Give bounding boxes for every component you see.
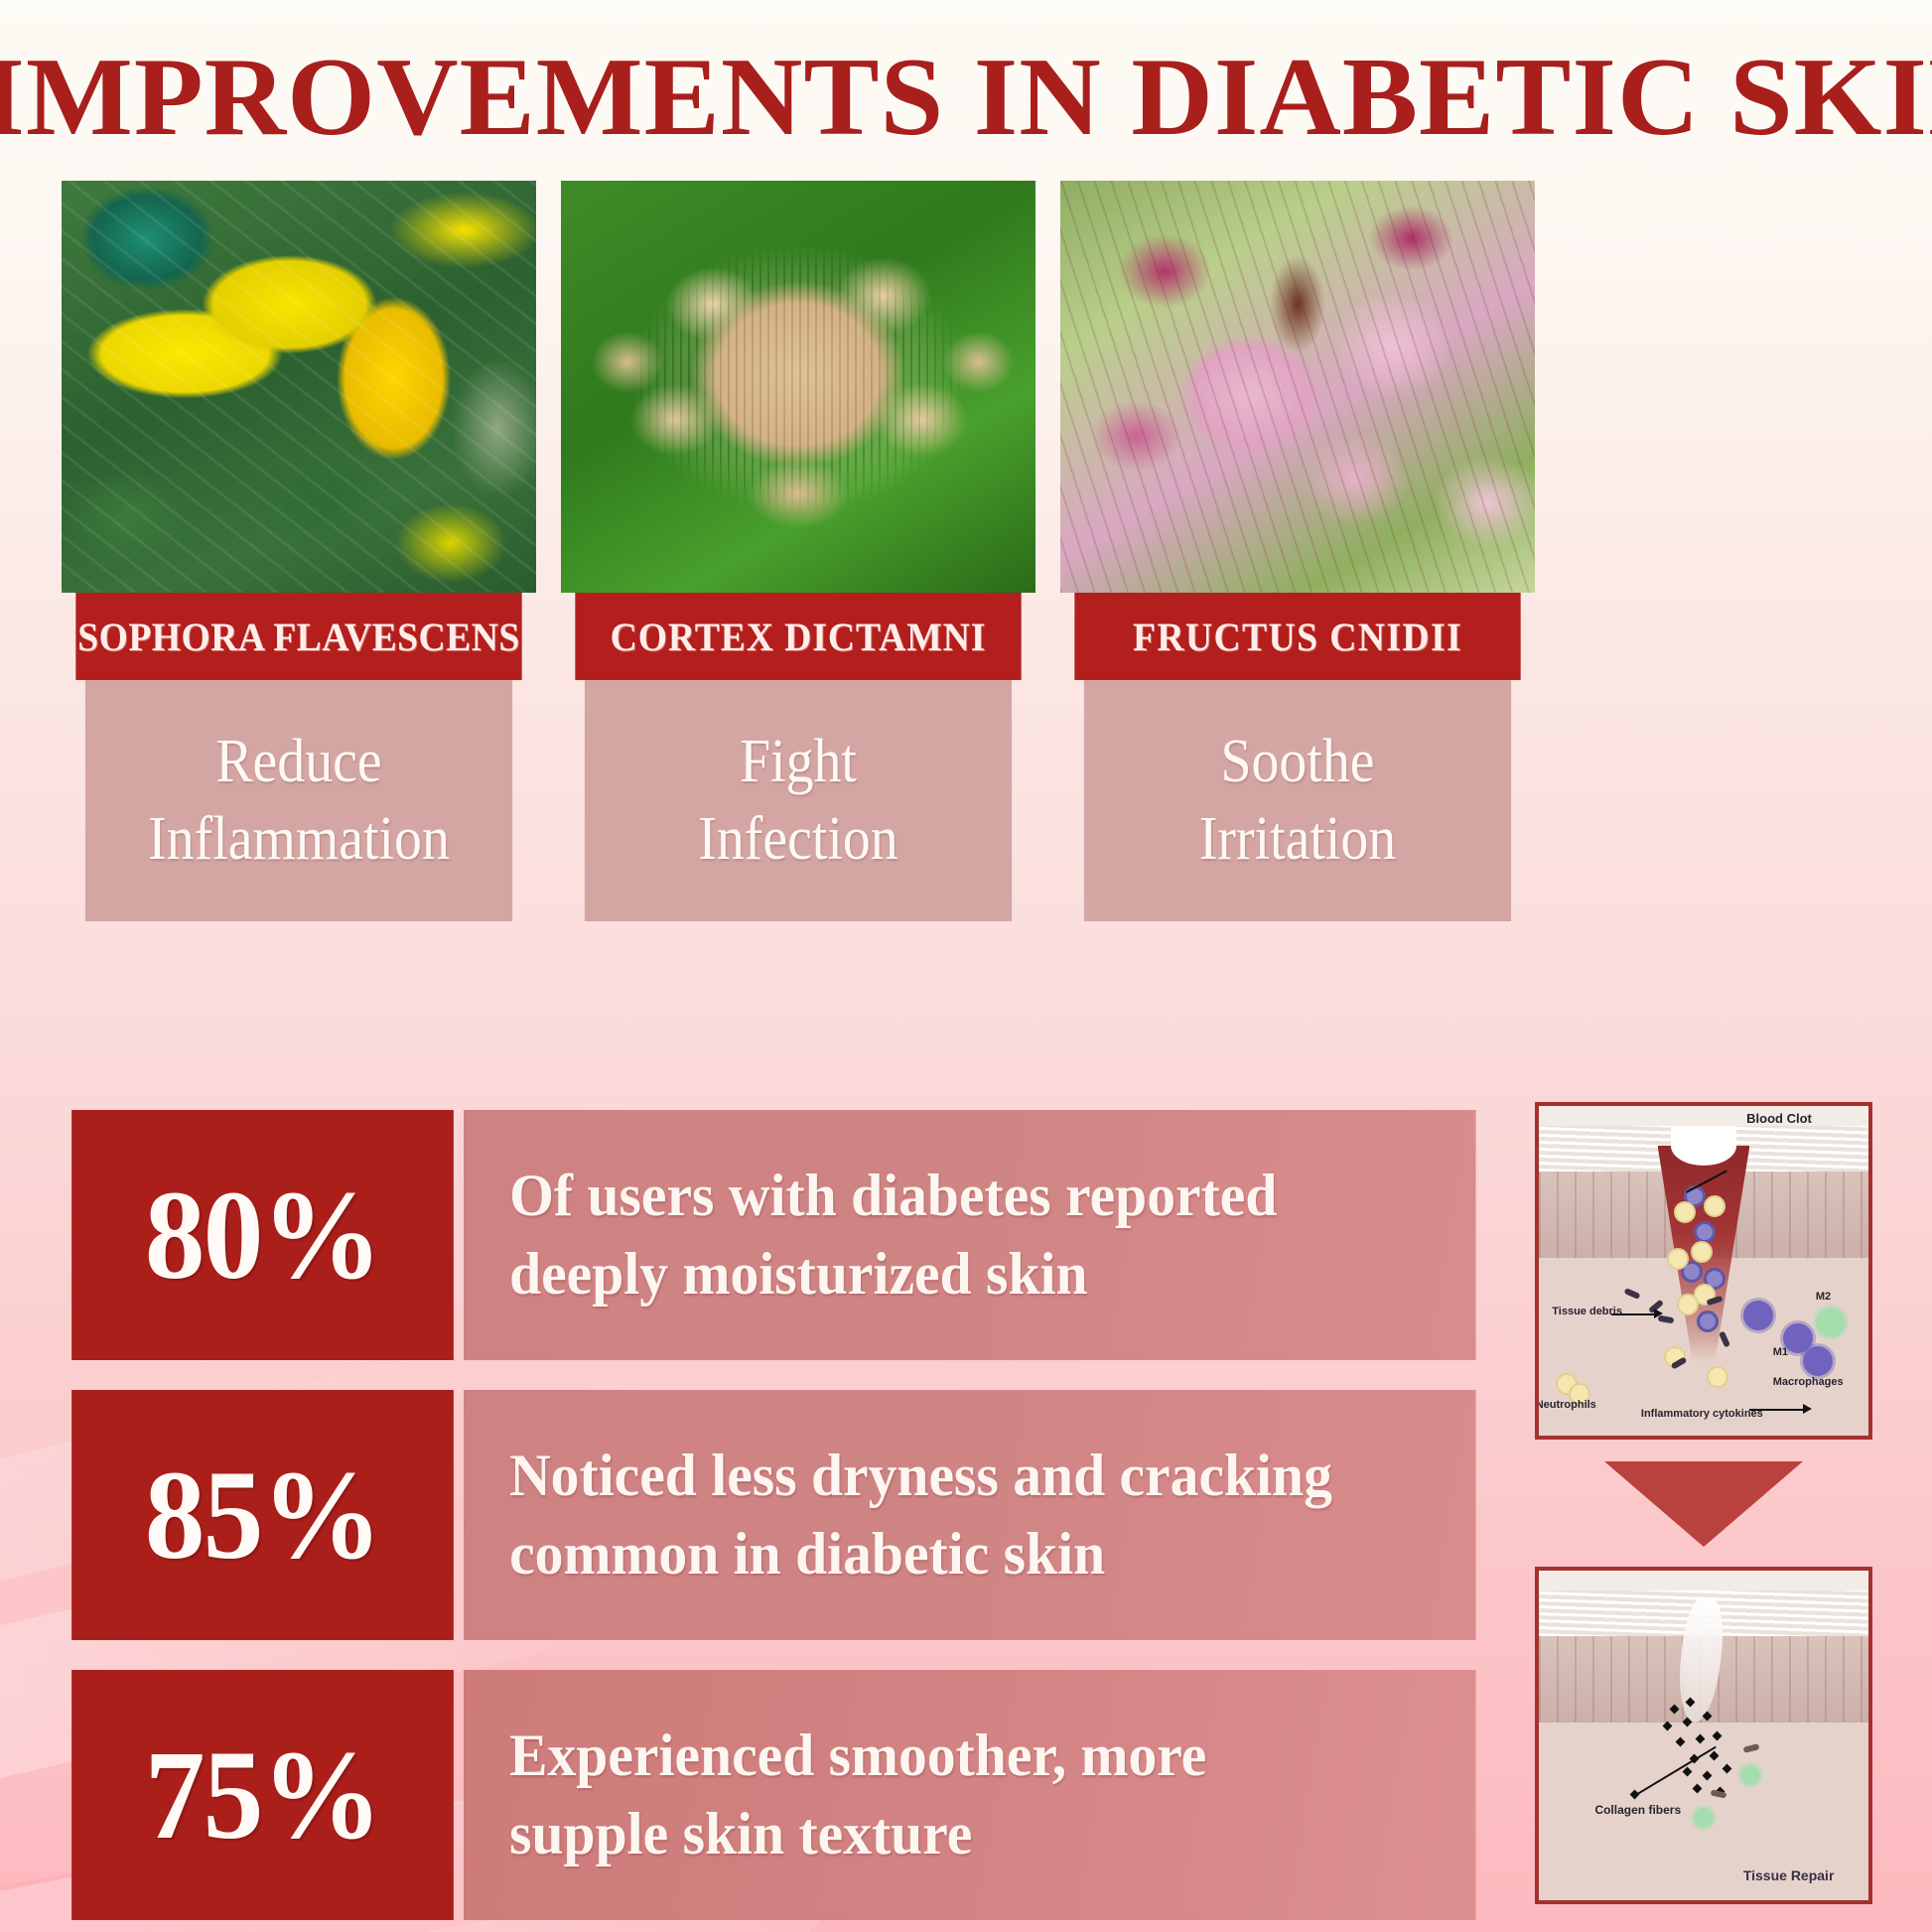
stat-percent-badge: 80% <box>71 1110 454 1360</box>
herb-name-label: CORTEX DICTAMNI <box>575 593 1021 680</box>
fibroblast-cell <box>1694 1808 1714 1828</box>
label-tissue-repair: Tissue Repair <box>1743 1867 1835 1883</box>
macrophages-arrowhead <box>1803 1404 1812 1414</box>
macrophage-cell <box>1743 1301 1773 1330</box>
herb-benefit-line-2: Irritation <box>1199 801 1396 879</box>
downward-arrow-icon <box>1604 1461 1803 1547</box>
stat-description-line-2: common in diabetic skin <box>509 1515 1332 1593</box>
tissue-repair-diagram: Collagen fibers Tissue Repair <box>1535 1567 1872 1904</box>
herb-card-sophora-flavescens[interactable]: SOPHORA FLAVESCENS Reduce Inflammation <box>62 181 536 921</box>
herb-benefit-line-1: Reduce <box>215 724 381 801</box>
stat-description-line-1: Of users with diabetes reported <box>509 1157 1277 1235</box>
wound-opening <box>1671 1126 1736 1166</box>
herb-name-label: SOPHORA FLAVESCENS <box>75 593 521 680</box>
macrophage-m2-cell <box>1816 1308 1846 1337</box>
herb-benefit-panel: Reduce Inflammation <box>85 680 512 921</box>
stat-description: Of users with diabetes reported deeply m… <box>464 1110 1476 1360</box>
page-title: IMPROVEMENTS IN DIABETIC SKIN <box>0 42 1932 153</box>
neutrophil-cell <box>1691 1241 1713 1263</box>
herb-benefit-panel: Soothe Irritation <box>1084 680 1511 921</box>
label-neutrophils: Neutrophils <box>1536 1399 1596 1411</box>
neutrophil-cell <box>1704 1195 1725 1217</box>
stat-percent-badge: 75% <box>71 1670 454 1920</box>
photo-texture-overlay <box>561 181 1035 593</box>
herb-benefit-line-2: Inflammation <box>148 801 450 879</box>
label-blood-clot: Blood Clot <box>1746 1111 1812 1126</box>
macrophage-m1-cell <box>1803 1346 1833 1376</box>
herb-benefit-line-1: Fight <box>740 724 857 801</box>
poster-canvas: IMPROVEMENTS IN DIABETIC SKIN SOPHORA FL… <box>0 0 1932 1932</box>
label-m1: M1 <box>1773 1346 1788 1358</box>
stat-description-line-2: deeply moisturized skin <box>509 1235 1277 1313</box>
stat-percent-badge: 85% <box>71 1390 454 1640</box>
photo-texture-overlay <box>1060 181 1535 593</box>
statistics-list: 80% Of users with diabetes reported deep… <box>62 1110 1518 1932</box>
herb-benefit-panel: Fight Infection <box>585 680 1012 921</box>
herb-photo-cortex-dictamni <box>561 181 1035 593</box>
stat-description: Noticed less dryness and cracking common… <box>464 1390 1476 1640</box>
stat-description-line-2: supple skin texture <box>509 1795 1206 1873</box>
label-macrophages: Macrophages <box>1773 1376 1844 1388</box>
stat-row-75: 75% Experienced smoother, more supple sk… <box>62 1670 1518 1920</box>
herb-name-label: FRUCTUS CNIDII <box>1074 593 1520 680</box>
herb-benefit-line-2: Infection <box>698 801 897 879</box>
label-collagen-fibers: Collagen fibers <box>1594 1803 1681 1817</box>
herb-photo-sophora-flavescens <box>62 181 536 593</box>
herb-card-cortex-dictamni[interactable]: CORTEX DICTAMNI Fight Infection <box>561 181 1035 921</box>
label-tissue-debris: Tissue debris <box>1552 1306 1622 1317</box>
herb-card-fructus-cnidii[interactable]: FRUCTUS CNIDII Soothe Irritation <box>1060 181 1535 921</box>
label-m2: M2 <box>1816 1291 1831 1303</box>
herb-benefit-line-1: Soothe <box>1220 724 1374 801</box>
label-inflammatory-cytokines: Inflammatory cytokines <box>1641 1408 1763 1420</box>
photo-texture-overlay <box>62 181 536 593</box>
stat-description: Experienced smoother, more supple skin t… <box>464 1670 1476 1920</box>
stat-row-80: 80% Of users with diabetes reported deep… <box>62 1110 1518 1360</box>
stat-row-85: 85% Noticed less dryness and cracking co… <box>62 1390 1518 1640</box>
inflammation-diagram: Blood Clot Tissue debris Neutrophils Inf… <box>1535 1102 1872 1440</box>
diagram-column: Blood Clot Tissue debris Neutrophils Inf… <box>1535 1102 1872 1904</box>
herb-photo-fructus-cnidii <box>1060 181 1535 593</box>
stat-description-line-1: Noticed less dryness and cracking <box>509 1437 1332 1515</box>
fibroblast-cell <box>1740 1765 1760 1785</box>
tissue-debris-arrowhead <box>1654 1309 1663 1318</box>
stat-description-line-1: Experienced smoother, more <box>509 1717 1206 1795</box>
herb-card-list: SOPHORA FLAVESCENS Reduce Inflammation C… <box>62 181 1870 921</box>
